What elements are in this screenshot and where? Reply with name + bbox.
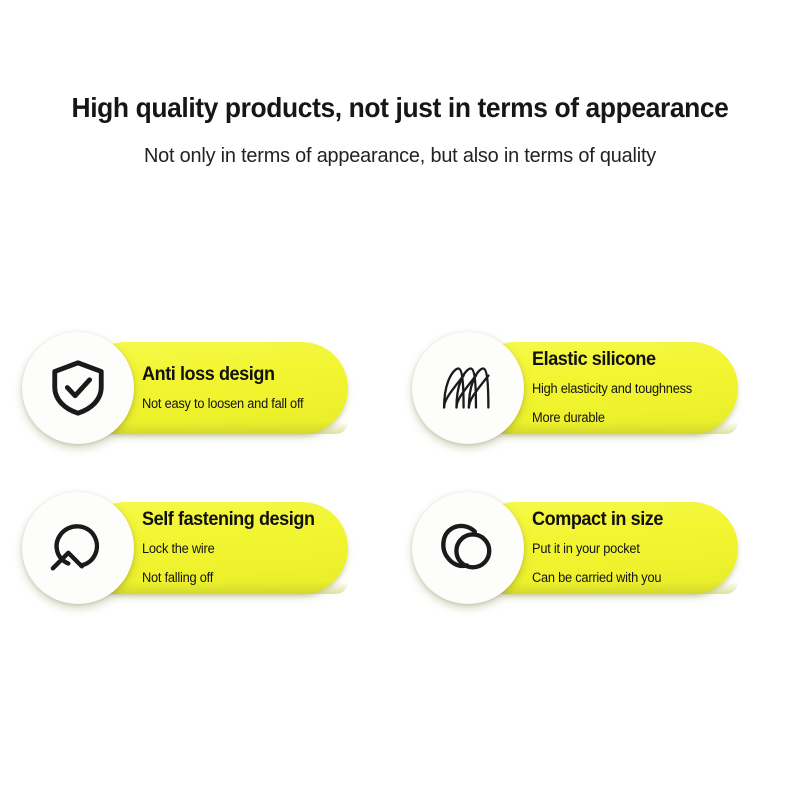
card-line: Not falling off: [142, 571, 343, 586]
shield-check-icon: [47, 357, 109, 419]
icon-badge: [22, 332, 134, 444]
header-block: High quality products, not just in terms…: [0, 92, 800, 168]
icon-badge: [412, 332, 524, 444]
overlapping-circles-icon: [438, 519, 498, 577]
card-text-block: Self fastening design Lock the wire Not …: [142, 502, 354, 594]
card-title: Compact in size: [532, 510, 733, 531]
card-text-block: Elastic silicone High elasticity and tou…: [532, 342, 744, 434]
card-title: Elastic silicone: [532, 350, 733, 371]
feature-card-elastic-silicone: Elastic silicone High elasticity and tou…: [412, 332, 752, 442]
card-title: Anti loss design: [142, 365, 343, 386]
icon-badge: [412, 492, 524, 604]
feature-card-anti-loss-design: Anti loss design Not easy to loosen and …: [22, 332, 362, 442]
page-title: High quality products, not just in terms…: [16, 92, 784, 124]
spacer: [532, 397, 744, 411]
page-subtitle: Not only in terms of appearance, but als…: [12, 144, 788, 169]
card-line: Not easy to loosen and fall off: [142, 397, 343, 412]
cable-loop-icon: [47, 519, 109, 577]
card-text-block: Anti loss design Not easy to loosen and …: [142, 342, 354, 434]
icon-badge: [22, 492, 134, 604]
card-line: More durable: [532, 411, 733, 426]
feature-card-grid: Anti loss design Not easy to loosen and …: [0, 332, 800, 652]
card-title: Self fastening design: [142, 510, 343, 531]
card-text-block: Compact in size Put it in your pocket Ca…: [532, 502, 744, 594]
card-line: Can be carried with you: [532, 571, 733, 586]
feature-highlights-page: High quality products, not just in terms…: [0, 0, 800, 800]
card-line: High elasticity and toughness: [532, 382, 733, 397]
spring-coil-icon: [437, 360, 499, 416]
spacer: [532, 557, 744, 571]
feature-card-self-fastening-design: Self fastening design Lock the wire Not …: [22, 492, 362, 602]
card-line: Put it in your pocket: [532, 542, 733, 557]
spacer: [142, 557, 354, 571]
card-line: Lock the wire: [142, 542, 343, 557]
feature-card-compact-in-size: Compact in size Put it in your pocket Ca…: [412, 492, 752, 602]
